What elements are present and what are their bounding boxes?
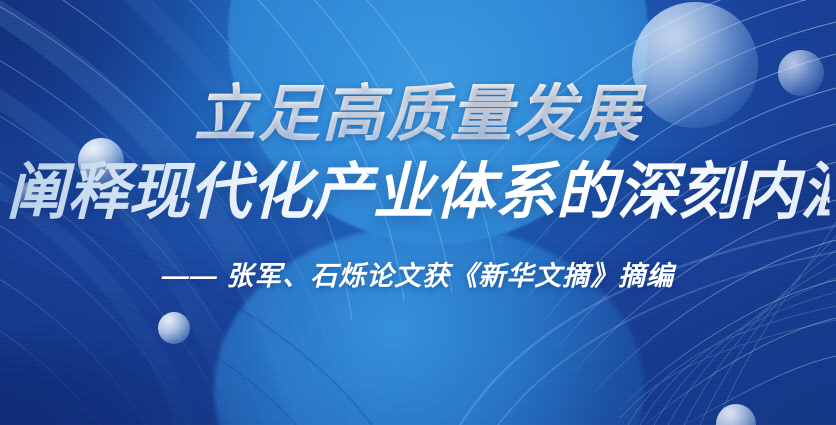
poster-content: 立足高质量发展 阐释现代化产业体系的深刻内涵 —— 张军、石烁论文获《新华文摘》… <box>0 0 836 425</box>
poster-subtitle: —— 张军、石烁论文获《新华文摘》摘编 <box>0 258 836 294</box>
poster-title-line-2: 阐释现代化产业体系的深刻内涵 <box>6 158 829 228</box>
poster-banner: 立足高质量发展 阐释现代化产业体系的深刻内涵 —— 张军、石烁论文获《新华文摘》… <box>0 0 836 425</box>
poster-title-line-1: 立足高质量发展 <box>0 82 836 148</box>
